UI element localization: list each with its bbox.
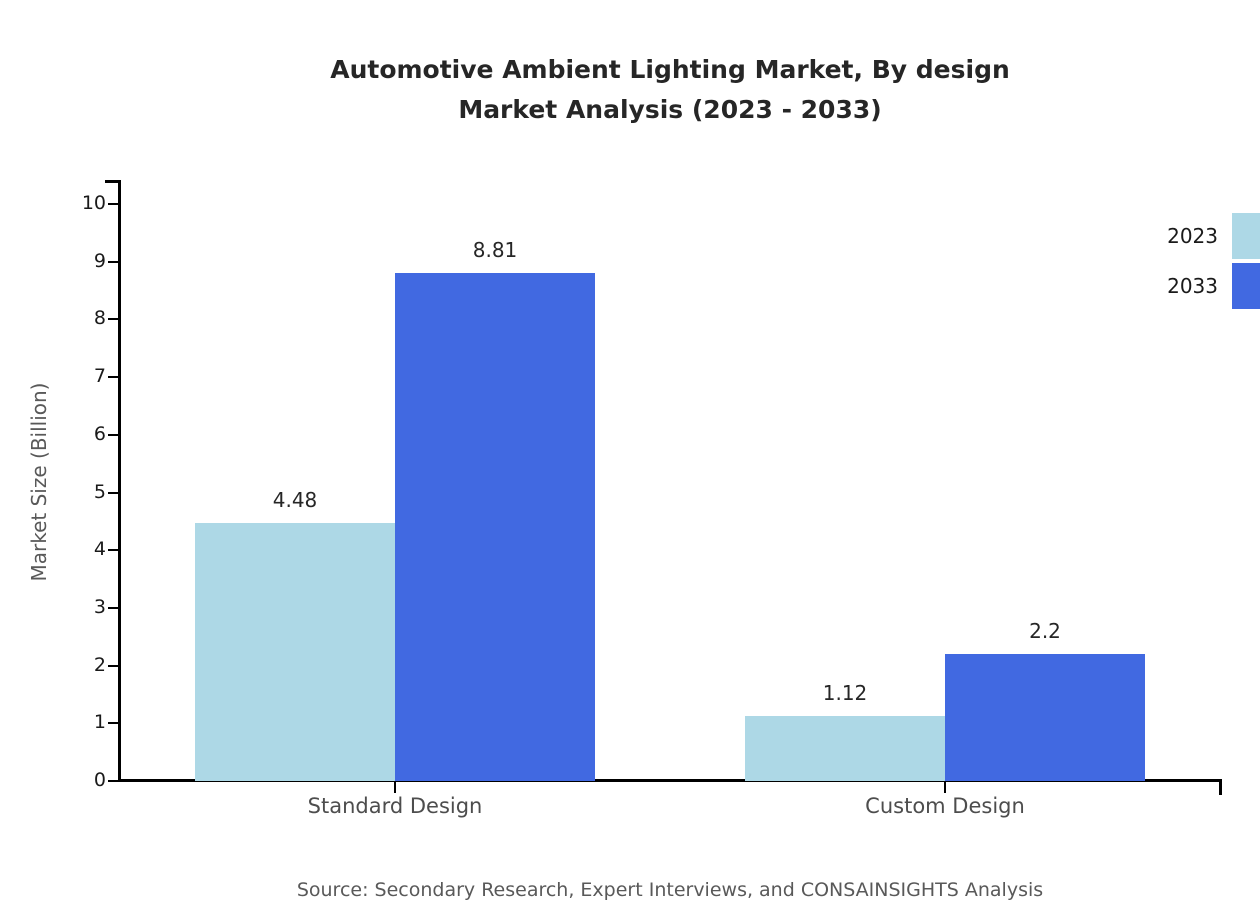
bar-value-label: 1.12 — [725, 683, 965, 703]
legend-swatch — [1232, 213, 1260, 259]
x-tick-label: Custom Design — [745, 794, 1145, 818]
bar-value-label: 4.48 — [175, 490, 415, 510]
x-tick-label: Standard Design — [195, 794, 595, 818]
legend-swatch — [1232, 263, 1260, 309]
x-tick-mark — [944, 782, 946, 793]
legend-label: 2033 — [1100, 274, 1218, 298]
x-axis-right-cap — [1219, 779, 1222, 795]
legend-item[interactable]: 2023 — [1100, 213, 1260, 263]
bar[interactable] — [195, 523, 395, 781]
bar-value-label: 2.2 — [925, 621, 1165, 641]
legend-label: 2023 — [1100, 224, 1218, 248]
chart-figure: Automotive Ambient Lighting Market, By d… — [0, 0, 1260, 920]
bar[interactable] — [945, 654, 1145, 781]
legend-item[interactable]: 2033 — [1100, 263, 1260, 313]
chart-legend: 20232033 — [1100, 213, 1260, 313]
bar-value-label: 8.81 — [375, 240, 615, 260]
bar[interactable] — [745, 716, 945, 781]
bars-layer — [0, 0, 1260, 781]
x-tick-mark — [394, 782, 396, 793]
bar[interactable] — [395, 273, 595, 781]
source-note: Source: Secondary Research, Expert Inter… — [0, 879, 1260, 901]
